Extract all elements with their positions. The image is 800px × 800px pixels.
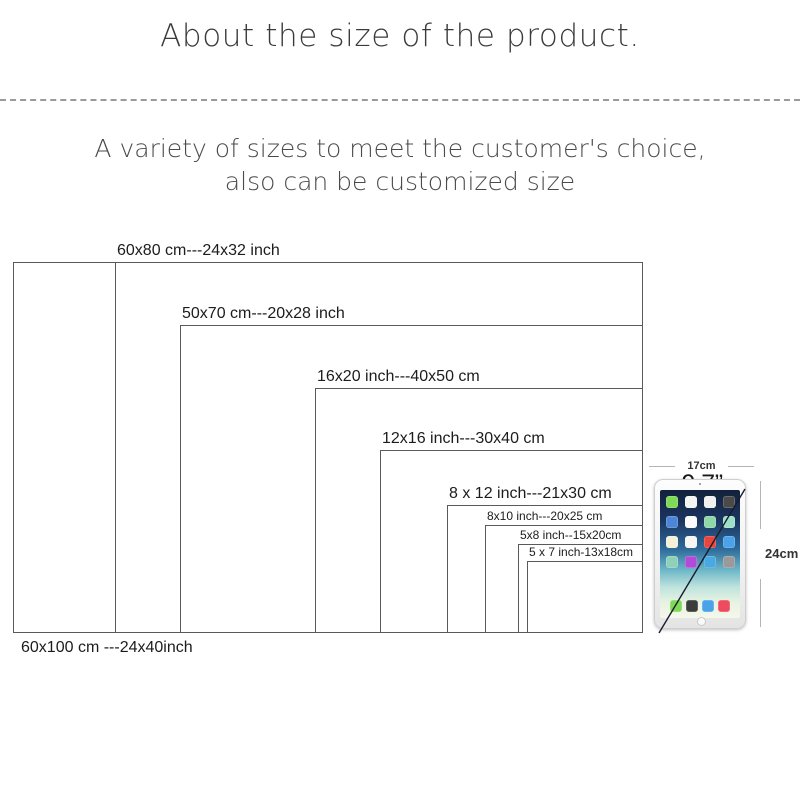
app-icon <box>685 516 697 528</box>
ipad-body <box>654 479 746 629</box>
ipad-camera-icon <box>699 483 701 485</box>
app-icon <box>685 556 697 568</box>
dock-app-icon <box>702 600 714 612</box>
size-label: 16x20 inch---40x50 cm <box>317 368 480 386</box>
app-icon <box>666 536 678 548</box>
ipad-dock <box>668 599 732 613</box>
size-label: 8 x 12 inch---21x30 cm <box>449 485 612 503</box>
app-icon <box>704 536 716 548</box>
app-icon <box>685 496 697 508</box>
ipad-height-label: 24cm <box>765 546 798 561</box>
dimension-line-top <box>760 481 761 529</box>
app-icon <box>666 496 678 508</box>
size-label: 60x100 cm ---24x40inch <box>21 639 193 657</box>
size-label: 60x80 cm---24x32 inch <box>117 242 280 260</box>
app-icon <box>723 536 735 548</box>
size-label: 5 x 7 inch-13x18cm <box>529 545 633 559</box>
size-label: 12x16 inch---30x40 cm <box>382 430 545 448</box>
ipad-reference: 17cm 9.7” 24cm <box>645 448 800 658</box>
ipad-screen <box>660 490 740 618</box>
app-icon <box>666 556 678 568</box>
app-icon <box>704 556 716 568</box>
dock-app-icon <box>686 600 698 612</box>
size-label: 50x70 cm---20x28 inch <box>182 305 345 323</box>
size-chart: 60x100 cm ---24x40inch60x80 cm---24x32 i… <box>0 0 800 800</box>
app-icon <box>704 516 716 528</box>
size-label: 5x8 inch--15x20cm <box>520 528 621 542</box>
app-icon <box>723 516 735 528</box>
app-icon <box>666 516 678 528</box>
app-icon <box>723 496 735 508</box>
ipad-home-button-icon <box>697 617 706 626</box>
app-icon <box>704 496 716 508</box>
ipad-height-dimension: 24cm <box>757 481 800 627</box>
ipad-app-grid <box>666 496 734 570</box>
product-size-page: About the size of the product. A variety… <box>0 0 800 800</box>
size-label: 8x10 inch---20x25 cm <box>487 509 602 523</box>
dock-app-icon <box>670 600 682 612</box>
app-icon <box>723 556 735 568</box>
dock-app-icon <box>718 600 730 612</box>
dimension-line-bottom <box>760 579 761 627</box>
size-box <box>527 561 643 633</box>
app-icon <box>685 536 697 548</box>
